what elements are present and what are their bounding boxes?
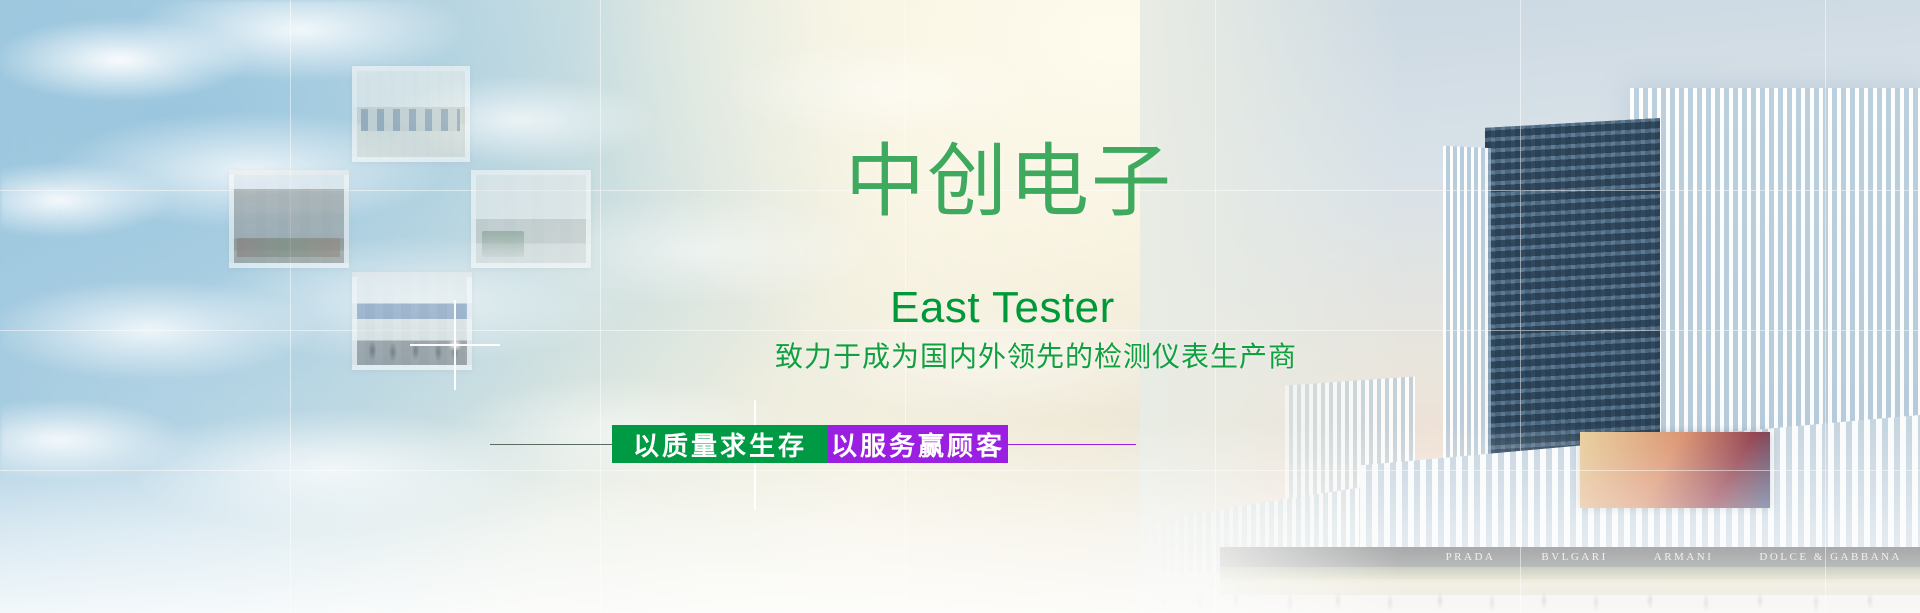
brand-tagline: 致力于成为国内外领先的检测仪表生产商: [775, 343, 1297, 371]
slogan-rule-left: [490, 444, 612, 445]
photo-production-line: [352, 66, 470, 162]
grid-line-v: [600, 0, 601, 613]
photo-office-corridor: [471, 170, 591, 268]
photo-factory-building: [229, 170, 349, 268]
slogan-chip-quality: 以质量求生存: [612, 425, 828, 463]
grid-line-v: [1825, 0, 1826, 613]
grid-line-h: [0, 470, 1920, 471]
grid-line-v: [290, 0, 291, 613]
grid-line-v: [1215, 0, 1216, 613]
slogan-chip-service: 以服务赢顾客: [828, 425, 1008, 463]
grid-line-v: [1520, 0, 1521, 613]
photo-trade-exhibition: [352, 272, 472, 370]
page-title: 中创电子: [845, 142, 1173, 222]
brand-name-en: East Tester: [890, 286, 1115, 330]
slogan-bar: 以质量求生存 以服务赢顾客: [490, 425, 1136, 463]
hero-banner: PRADA BVLGARI ARMANI DOLCE & GABBANA 中创电…: [0, 0, 1920, 613]
slogan-rule-right: [1008, 444, 1136, 445]
